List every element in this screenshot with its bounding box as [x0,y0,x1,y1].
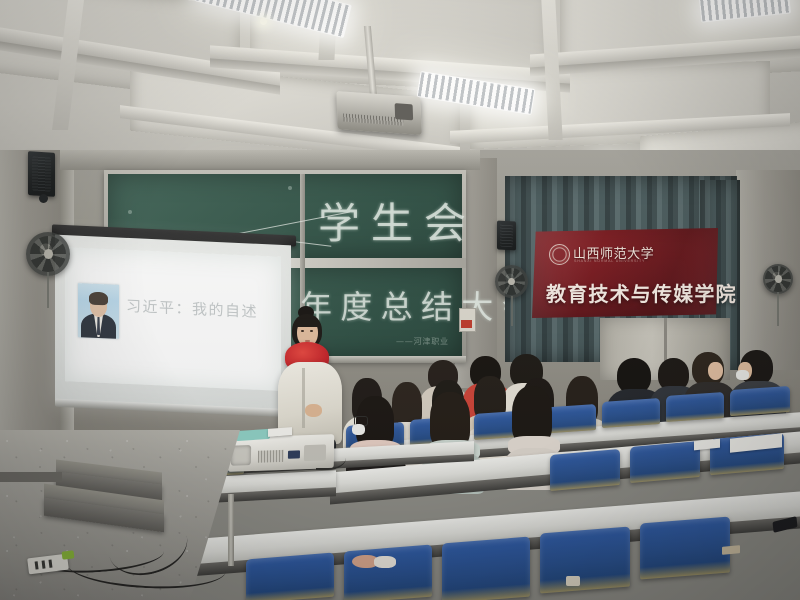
fire-alarm-button[interactable] [461,320,472,328]
banner-university-name-en: SHANXI NORMAL UNIVERSITY [574,259,645,263]
chair[interactable] [442,537,530,600]
chair[interactable] [344,545,432,600]
fan-stem [47,272,49,308]
power-indicator [62,550,75,559]
small-object [566,576,580,586]
ceiling-projector [336,91,421,135]
blackboard-faint-text: ——河津职业 [396,336,449,347]
blackboard-text-line1: 学生会 [318,190,477,251]
chair[interactable] [666,392,724,422]
wall-fan-right [763,264,793,294]
wall-fan-left [26,232,70,276]
wall-fan-center [495,265,528,298]
chair[interactable] [602,398,660,428]
chair[interactable] [640,516,730,579]
chair[interactable] [540,526,630,593]
classroom-photo: 学生会 年度总结大会 ——河津职业 山西师范大学 SHANXI NORMAL U… [0,0,800,600]
presenter-hands [305,404,322,417]
wall-speaker-left [28,151,55,197]
chair[interactable] [630,441,700,483]
downlight [260,18,267,25]
fan-stem [511,296,513,326]
chair[interactable] [730,386,790,416]
baseboard [0,472,62,482]
banner-college-name: 教育技术与传媒学院 [546,278,737,307]
paper-sheet [268,427,292,437]
wall-lintel [60,150,480,170]
slide-portrait-image [78,283,119,339]
speaker-bracket [39,194,48,203]
shoe [374,556,396,568]
eraser [722,545,740,555]
chair[interactable] [550,449,620,491]
fan-stem [777,292,779,326]
wall-speaker-right [497,221,516,251]
chair[interactable] [246,553,334,600]
desk-leg [228,494,234,566]
university-seal-icon [549,244,570,265]
